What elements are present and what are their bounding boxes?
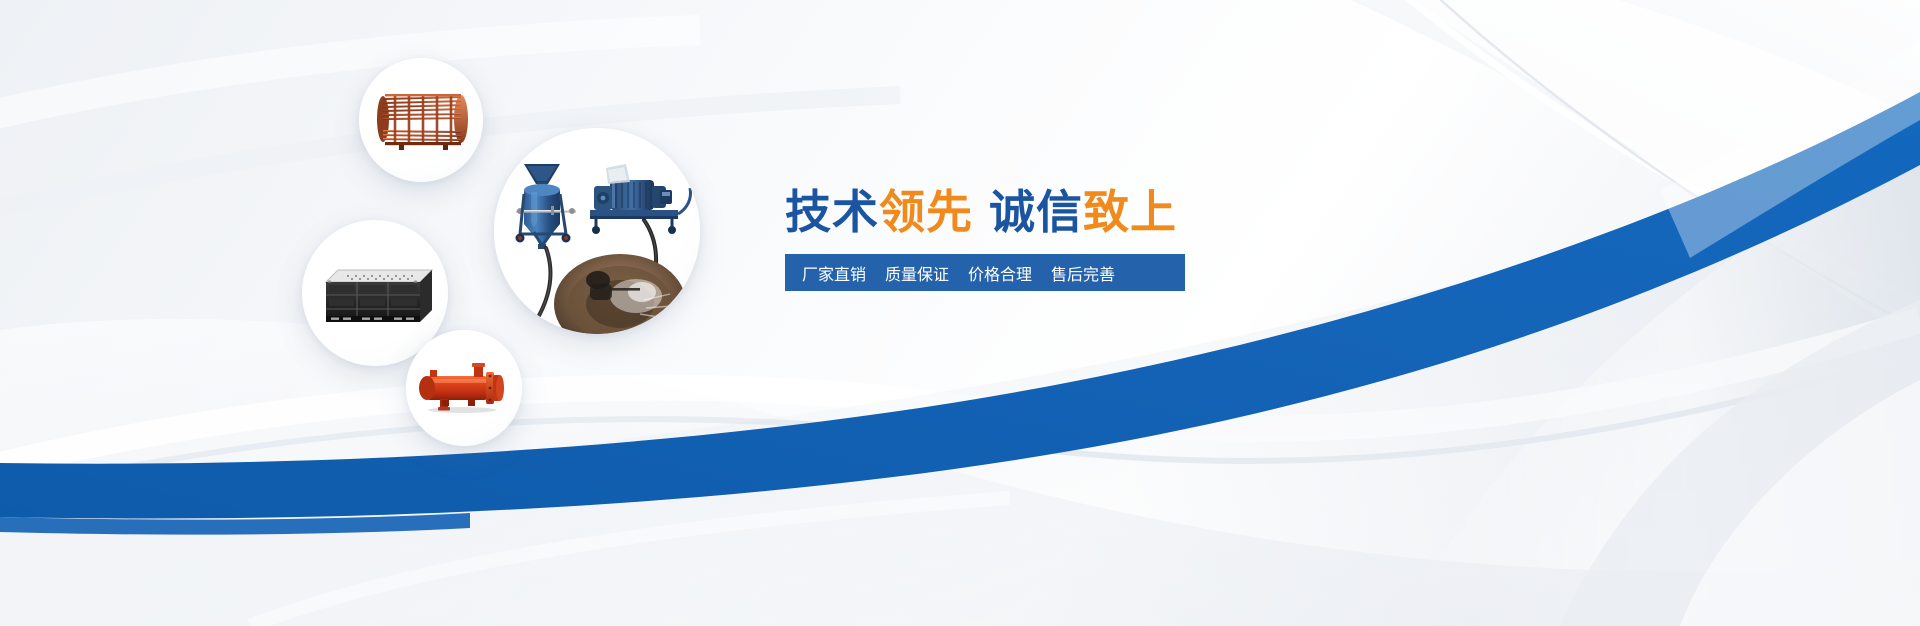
- feature-tag-factory-direct: 厂家直销: [802, 261, 866, 285]
- product-circle-orange-shell-tube-cooler[interactable]: [406, 330, 522, 446]
- copper-tube-bundle-icon: [359, 58, 483, 182]
- headline-segment-2: 领先: [879, 185, 973, 239]
- cleaning-machine-unit-icon: [494, 128, 700, 334]
- feature-tag-fair-price: 价格合理: [968, 261, 1032, 285]
- headline-segment-1: 技术: [785, 185, 879, 239]
- hero-headline: 技术领先诚信致上: [785, 189, 1205, 235]
- wave-topleft-white: [0, 30, 700, 120]
- feature-tag-quality-assured: 质量保证: [885, 261, 949, 285]
- feature-tag-after-sales: 售后完善: [1051, 261, 1115, 285]
- product-circle-copper-tube-bundle[interactable]: [359, 58, 483, 182]
- hero-text-block: 技术领先诚信致上 厂家直销 质量保证 价格合理 售后完善: [785, 189, 1205, 291]
- headline-segment-3: 诚信: [989, 185, 1083, 239]
- feature-tag-bar: 厂家直销 质量保证 价格合理 售后完善: [785, 254, 1185, 291]
- background-waves: [0, 0, 1920, 626]
- orange-shell-tube-cooler-icon: [406, 330, 522, 446]
- product-circle-cleaning-machine-unit[interactable]: [494, 128, 700, 334]
- headline-segment-4: 致上: [1083, 185, 1177, 239]
- hero-banner: 技术领先诚信致上 厂家直销 质量保证 价格合理 售后完善: [0, 0, 1920, 626]
